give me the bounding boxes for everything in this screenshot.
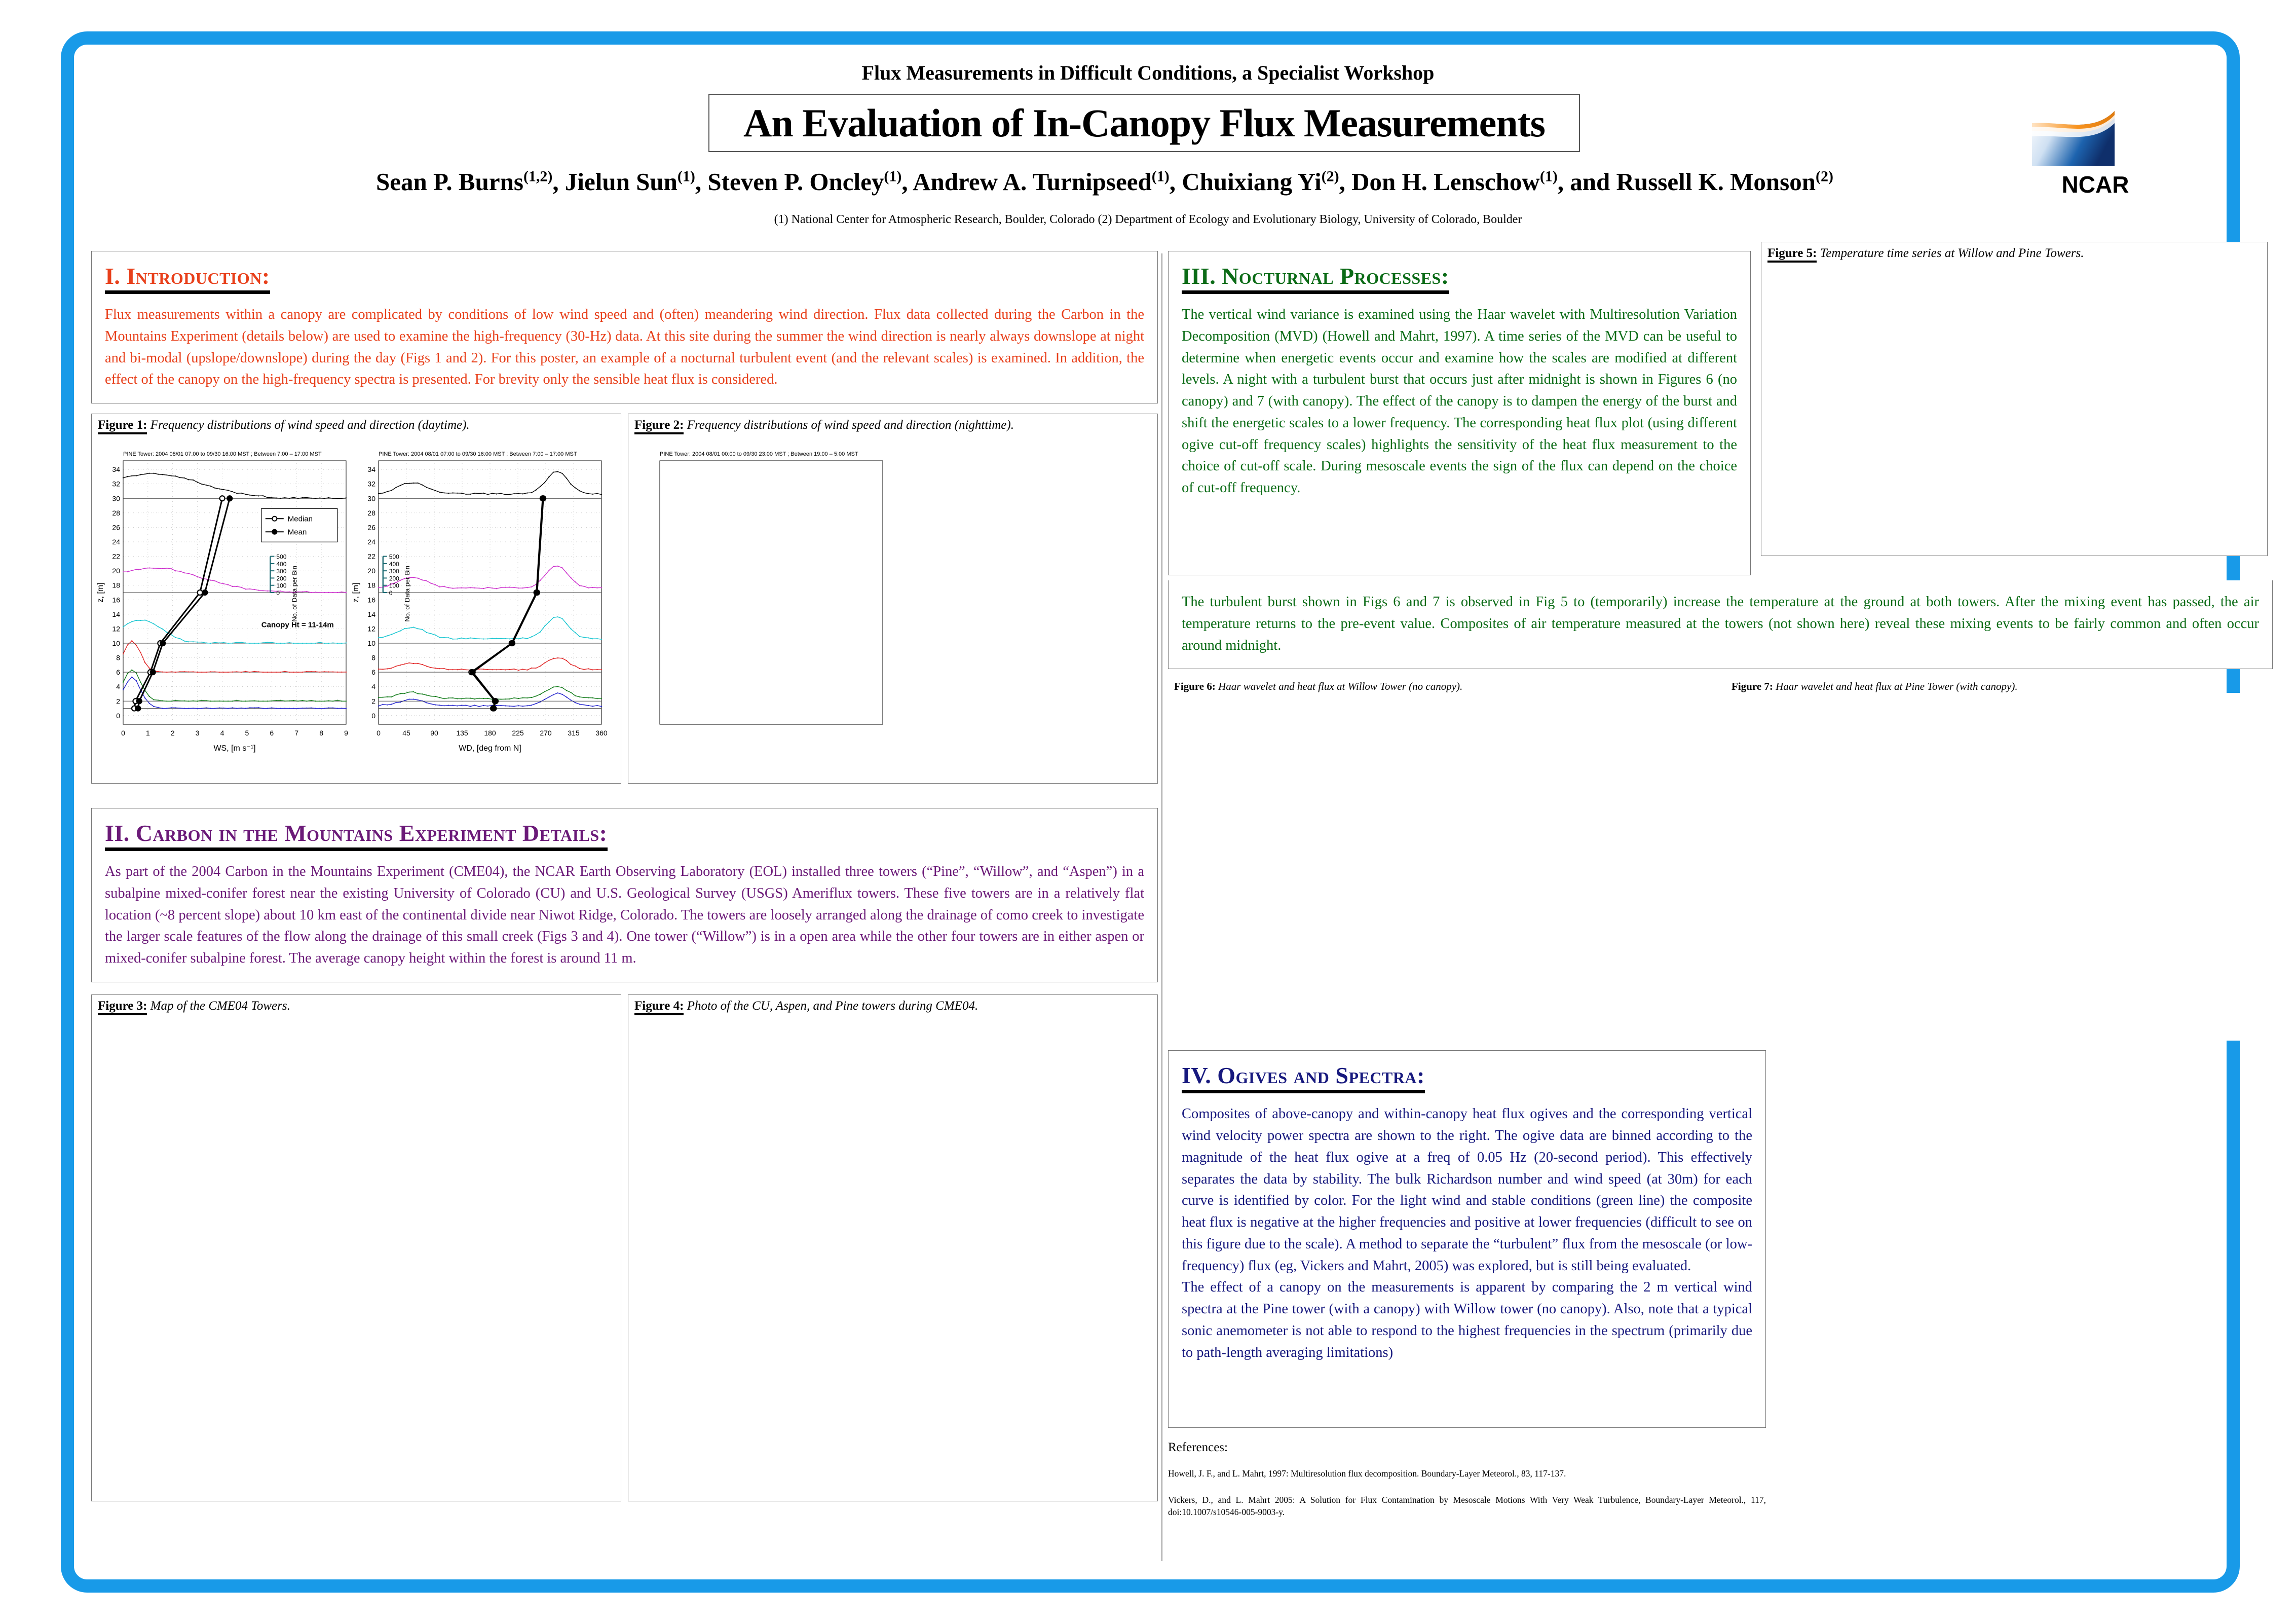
ogives-heading: IV. Ogives and Spectra: [1182,1062,1425,1093]
svg-text:16: 16 [367,596,375,604]
figure-3: Figure 3: Map of the CME04 Towers. [91,994,621,1501]
svg-text:14: 14 [112,610,120,618]
section-nocturnal: III. Nocturnal Processes: The vertical w… [1168,251,1751,575]
figure-5-caption-text: Temperature time series at Willow and Pi… [1820,246,2084,260]
figure-1-caption: Figure 1: Frequency distributions of win… [92,414,621,432]
figure-2-number: Figure 2: [634,418,684,434]
figure-4-photo [660,1039,1126,1472]
svg-text:16: 16 [112,596,120,604]
figure-5-plot [1763,264,2266,554]
figure-2: Figure 2: Frequency distributions of win… [628,414,1158,784]
section-introduction: I. Introduction: Flux measurements withi… [91,251,1158,403]
svg-text:400: 400 [276,561,286,568]
svg-text:180: 180 [484,729,496,737]
figure-7-caption: Figure 7: Haar wavelet and heat flux at … [1725,676,2270,693]
svg-text:10: 10 [367,639,375,647]
svg-text:34: 34 [112,465,120,473]
svg-text:WD, [deg from N]: WD, [deg from N] [459,744,521,753]
svg-text:300: 300 [389,568,399,575]
svg-text:PINE Tower: 2004 08/01 07:00: PINE Tower: 2004 08/01 07:00 to 09/30 16… [379,451,577,457]
figure-4: Figure 4: Photo of the CU, Aspen, and Pi… [628,994,1158,1501]
figure-1: Figure 1: Frequency distributions of win… [91,414,621,784]
svg-text:WS, [m s⁻¹]: WS, [m s⁻¹] [213,744,255,753]
author-list: Sean P. Burns(1,2), Jielun Sun(1), Steve… [0,167,2209,196]
figure-3-caption: Figure 3: Map of the CME04 Towers. [92,995,621,1013]
svg-text:32: 32 [367,480,375,488]
svg-text:45: 45 [402,729,410,737]
figure-4-caption-text: Photo of the CU, Aspen, and Pine towers … [687,999,978,1013]
poster-title-box: An Evaluation of In-Canopy Flux Measurem… [708,94,1580,152]
svg-text:200: 200 [389,575,399,582]
svg-text:0: 0 [389,589,393,597]
svg-text:22: 22 [112,552,120,561]
ncar-logo: NCAR [2019,109,2171,200]
figure-3-map [95,1018,619,1499]
svg-text:z, [m]: z, [m] [96,582,105,602]
svg-text:12: 12 [112,624,120,633]
svg-text:18: 18 [112,581,120,589]
svg-text:28: 28 [112,509,120,517]
svg-text:5: 5 [245,729,249,737]
nocturnal-heading: III. Nocturnal Processes: [1182,263,1449,294]
svg-text:z, [m]: z, [m] [352,582,360,602]
svg-text:8: 8 [371,654,375,662]
svg-text:6: 6 [371,668,375,676]
svg-text:9: 9 [344,729,348,737]
figure-6-caption-text: Haar wavelet and heat flux at Willow Tow… [1218,680,1462,692]
svg-text:500: 500 [276,554,286,561]
svg-text:400: 400 [389,561,399,568]
svg-text:200: 200 [276,575,286,582]
cme-heading: II. Carbon in the Mountains Experiment D… [105,820,608,851]
svg-text:Canopy Ht = 11-14m: Canopy Ht = 11-14m [261,621,334,630]
svg-text:4: 4 [371,683,375,691]
svg-text:2: 2 [116,697,120,705]
ogive-spectra-grid [1768,1045,2273,1557]
introduction-body: Flux measurements within a canopy are co… [105,304,1144,391]
figure-5-number: Figure 5: [1767,246,1817,263]
ncar-wordmark: NCAR [2019,171,2171,198]
figure-1-caption-text: Frequency distributions of wind speed an… [150,418,470,432]
svg-text:4: 4 [116,683,120,691]
figure-7-caption-text: Haar wavelet and heat flux at Pine Tower… [1776,680,2018,692]
svg-text:26: 26 [367,523,375,531]
svg-text:0: 0 [276,589,280,597]
figure-1-number: Figure 1: [98,418,147,434]
svg-text:10: 10 [112,639,120,647]
svg-text:90: 90 [430,729,438,737]
svg-text:100: 100 [276,582,286,589]
figure-2-caption: Figure 2: Frequency distributions of win… [628,414,1157,432]
reference-item-2: Vickers, D., and L. Mahrt 2005: A Soluti… [1168,1494,1766,1518]
svg-text:6: 6 [270,729,274,737]
figure-6-caption: Figure 6: Haar wavelet and heat flux at … [1168,676,1713,693]
figure-5-caption: Figure 5: Temperature time series at Wil… [1761,242,2267,261]
svg-text:22: 22 [367,552,375,561]
ncar-swoosh-icon [2032,109,2116,169]
figure-2-plot: PINE Tower: 2004 08/01 00:00 to 09/30 23… [631,437,1155,780]
svg-text:18: 18 [367,581,375,589]
svg-text:20: 20 [112,567,120,575]
svg-text:14: 14 [367,610,375,618]
svg-text:300: 300 [276,568,286,575]
svg-text:No. of Data per Bin: No. of Data per Bin [403,566,411,622]
svg-text:0: 0 [377,729,381,737]
references-label: References: [1168,1441,1766,1455]
svg-text:100: 100 [389,582,399,589]
figure-7-plot [1725,693,2270,1041]
svg-text:0: 0 [116,712,120,720]
svg-text:30: 30 [112,494,120,502]
svg-text:2: 2 [371,697,375,705]
svg-text:20: 20 [367,567,375,575]
svg-text:8: 8 [319,729,323,737]
svg-text:3: 3 [196,729,200,737]
figure-6-plot [1168,693,1713,1041]
figure-5: Figure 5: Temperature time series at Wil… [1761,242,2268,556]
svg-text:500: 500 [389,554,399,561]
svg-text:28: 28 [367,509,375,517]
references-block: References: Howell, J. F., and L. Mahrt,… [1168,1441,1766,1532]
section-ogives: IV. Ogives and Spectra: Composites of ab… [1168,1050,1766,1428]
column-divider [1161,253,1162,1561]
figure-3-caption-text: Map of the CME04 Towers. [150,999,290,1013]
svg-text:8: 8 [116,654,120,662]
cme-body: As part of the 2004 Carbon in the Mounta… [105,861,1144,970]
svg-text:No. of Data per Bin: No. of Data per Bin [290,566,298,622]
svg-text:2: 2 [171,729,175,737]
svg-text:26: 26 [112,523,120,531]
svg-text:Median: Median [288,514,313,523]
svg-text:135: 135 [456,729,468,737]
figure-4-caption: Figure 4: Photo of the CU, Aspen, and Pi… [628,995,1157,1013]
nocturnal-body-2-box: The turbulent burst shown in Figs 6 and … [1168,580,2273,669]
svg-text:225: 225 [512,729,524,737]
svg-text:Mean: Mean [288,528,307,536]
poster-root: Flux Measurements in Difficult Condition… [0,0,2296,1623]
svg-text:0: 0 [121,729,125,737]
svg-text:4: 4 [220,729,224,737]
svg-text:32: 32 [112,480,120,488]
workshop-subtitle: Flux Measurements in Difficult Condition… [0,61,2296,85]
ogives-body-1: Composites of above-canopy and within-ca… [1182,1103,1752,1277]
svg-text:PINE Tower: 2004 08/01 00:00: PINE Tower: 2004 08/01 00:00 to 09/30 23… [660,451,858,457]
figure-1-plot: PINE Tower: 2004 08/01 07:00 to 09/30 16… [95,437,619,780]
figure-2-caption-text: Frequency distributions of wind speed an… [687,418,1014,432]
svg-text:34: 34 [367,465,375,473]
svg-text:270: 270 [540,729,552,737]
left-column: I. Introduction: Flux measurements withi… [91,251,1158,1501]
reference-item-1: Howell, J. F., and L. Mahrt, 1997: Multi… [1168,1468,1766,1480]
figure-4-number: Figure 4: [634,999,684,1015]
svg-text:315: 315 [568,729,580,737]
svg-text:30: 30 [367,494,375,502]
introduction-heading: I. Introduction: [105,263,270,294]
ogives-body-2: The effect of a canopy on the measuremen… [1182,1277,1752,1363]
svg-text:24: 24 [367,538,375,546]
svg-text:PINE Tower: 2004 08/01 07:00: PINE Tower: 2004 08/01 07:00 to 09/30 16… [123,451,322,457]
section-cme-details: II. Carbon in the Mountains Experiment D… [91,808,1158,982]
right-column: III. Nocturnal Processes: The vertical w… [1168,251,2273,1557]
svg-text:24: 24 [112,538,120,546]
page-title: An Evaluation of In-Canopy Flux Measurem… [743,100,1545,146]
svg-text:0: 0 [371,712,375,720]
affiliation-line: (1) National Center for Atmospheric Rese… [0,213,2296,227]
nocturnal-body-2: The turbulent burst shown in Figs 6 and … [1182,592,2259,656]
svg-text:7: 7 [294,729,298,737]
svg-text:12: 12 [367,624,375,633]
figure-3-number: Figure 3: [98,999,147,1015]
svg-text:6: 6 [116,668,120,676]
svg-text:1: 1 [146,729,150,737]
svg-text:360: 360 [595,729,608,737]
nocturnal-body-1: The vertical wind variance is examined u… [1182,304,1737,499]
